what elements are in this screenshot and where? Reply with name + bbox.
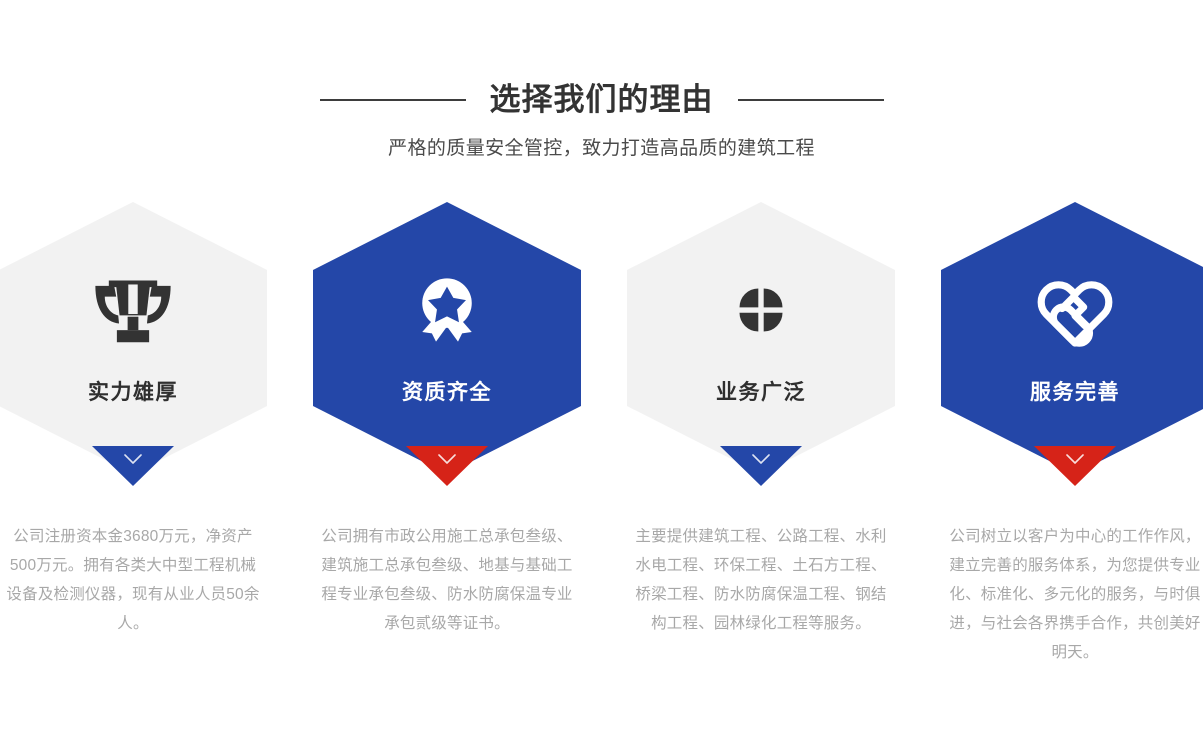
hexagon-wrapper[interactable]: 业务广泛 xyxy=(611,196,911,496)
feature-card-list: 实力雄厚 公司注册资本金3680万元，净资产500万元。拥有各类大中型工程机械设… xyxy=(0,196,1203,676)
feature-card[interactable]: 资质齐全 公司拥有市政公用施工总承包叁级、建筑施工总承包叁级、地基与基础工程专业… xyxy=(297,196,597,638)
award-medal-icon xyxy=(403,264,491,356)
hexagon-wrapper[interactable]: 实力雄厚 xyxy=(0,196,283,496)
feature-label: 服务完善 xyxy=(1030,376,1120,406)
heart-handshake-icon xyxy=(1029,264,1121,356)
feature-description: 公司拥有市政公用施工总承包叁级、建筑施工总承包叁级、地基与基础工程专业承包叁级、… xyxy=(297,522,597,638)
title-row: 选择我们的理由 xyxy=(0,78,1203,122)
hexagon-badge[interactable]: 业务广泛 xyxy=(627,202,895,474)
four-petal-clover-icon xyxy=(718,264,804,356)
feature-description: 主要提供建筑工程、公路工程、水利水电工程、环保工程、土石方工程、桥梁工程、防水防… xyxy=(611,522,911,638)
hexagon-wrapper[interactable]: 资质齐全 xyxy=(297,196,597,496)
feature-label: 业务广泛 xyxy=(716,376,806,406)
chevron-down-icon[interactable] xyxy=(720,446,802,486)
feature-label: 资质齐全 xyxy=(402,376,492,406)
hexagon-wrapper[interactable]: 服务完善 xyxy=(925,196,1203,496)
divider-right xyxy=(738,99,884,101)
chevron-down-icon[interactable] xyxy=(406,446,488,486)
section-header: 选择我们的理由 严格的质量安全管控，致力打造高品质的建筑工程 xyxy=(0,78,1203,162)
hexagon-badge[interactable]: 服务完善 xyxy=(941,202,1203,474)
page-title: 选择我们的理由 xyxy=(490,80,714,120)
divider-left xyxy=(320,99,466,101)
feature-description: 公司树立以客户为中心的工作作风，建立完善的服务体系，为您提供专业化、标准化、多元… xyxy=(925,522,1203,667)
chevron-down-icon[interactable] xyxy=(92,446,174,486)
hexagon-badge[interactable]: 资质齐全 xyxy=(313,202,581,474)
feature-card[interactable]: 实力雄厚 公司注册资本金3680万元，净资产500万元。拥有各类大中型工程机械设… xyxy=(0,196,283,638)
feature-label: 实力雄厚 xyxy=(88,376,178,406)
hexagon-badge[interactable]: 实力雄厚 xyxy=(0,202,267,474)
trophy-icon xyxy=(90,264,176,356)
feature-description: 公司注册资本金3680万元，净资产500万元。拥有各类大中型工程机械设备及检测仪… xyxy=(0,522,283,638)
page-subtitle: 严格的质量安全管控，致力打造高品质的建筑工程 xyxy=(0,136,1203,162)
feature-card[interactable]: 业务广泛 主要提供建筑工程、公路工程、水利水电工程、环保工程、土石方工程、桥梁工… xyxy=(611,196,911,638)
feature-highlights-section: 选择我们的理由 严格的质量安全管控，致力打造高品质的建筑工程 xyxy=(0,0,1203,736)
feature-card[interactable]: 服务完善 公司树立以客户为中心的工作作风，建立完善的服务体系，为您提供专业化、标… xyxy=(925,196,1203,667)
chevron-down-icon[interactable] xyxy=(1034,446,1116,486)
